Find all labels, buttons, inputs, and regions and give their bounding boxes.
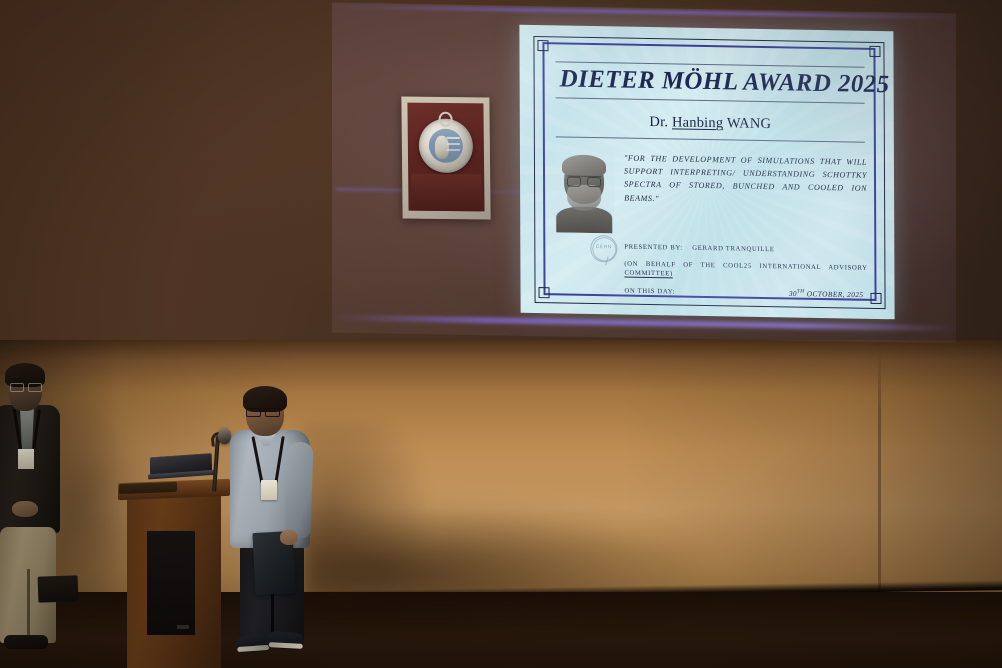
on-behalf-suffix: COMMITTEE) <box>624 270 672 278</box>
plaque-board <box>407 103 484 212</box>
speaker-badge <box>261 480 277 500</box>
portrait-hair <box>562 155 606 178</box>
recipient-first-name: Hanbing <box>672 115 723 132</box>
floor-shadow <box>300 500 720 620</box>
attendee-hands <box>12 501 38 517</box>
medal-engraving <box>447 137 460 156</box>
medal-center <box>429 129 463 163</box>
lectern-body <box>127 495 221 668</box>
recipient-prefix: Dr. <box>649 114 668 130</box>
corner-square-top-right <box>869 46 880 57</box>
corner-square-top-left <box>537 40 548 51</box>
speaker-shoe-left <box>235 635 270 653</box>
recipient-last-name: WANG <box>727 116 771 133</box>
certificate-title-block: DIETER MÖHL AWARD 2025 <box>554 61 867 104</box>
speaker-hand <box>280 530 298 545</box>
date-day: 30 <box>789 289 797 298</box>
corner-square-bottom-left <box>539 287 550 298</box>
date-ordinal: TH <box>797 288 804 294</box>
date-month-year: OCTOBER, 2025 <box>804 289 863 299</box>
award-medal-icon <box>419 119 474 174</box>
attendee-standing-left <box>0 363 70 668</box>
attendee-shoes <box>4 635 48 649</box>
certificate-content: DIETER MÖHL AWARD 2025 Dr. Hanbing WANG … <box>553 51 867 292</box>
cern-logo-icon: CERN <box>590 235 617 262</box>
lectern-panel-logo <box>177 625 189 629</box>
portrait-beard <box>567 185 601 212</box>
award-citation-text: "FOR THE DEVELOPMENT OF SIMULATIONS THAT… <box>624 150 867 209</box>
presented-by-label: PRESENTED BY: <box>624 244 683 252</box>
corner-square-bottom-right <box>871 293 882 304</box>
cern-seal-label: CERN <box>596 244 612 250</box>
attendee-badge <box>18 449 34 469</box>
speaker-shoe-right <box>268 631 305 650</box>
on-behalf-line: (ON BEHALF OF THE COOL25 INTERNATIONAL A… <box>624 259 867 282</box>
dark-object-floor-left <box>38 575 79 602</box>
recipient-name: Dr. Hanbing WANG <box>554 113 867 135</box>
attendee-leg-seam <box>27 569 30 643</box>
dieter-mohl-portrait <box>554 149 614 234</box>
photo-scene: DIETER MÖHL AWARD 2025 Dr. Hanbing WANG … <box>0 0 1002 668</box>
name-rule <box>556 137 865 143</box>
speaker-glasses-icon <box>246 408 280 415</box>
attendee-glasses-icon <box>10 383 42 390</box>
portrait-glasses-icon <box>567 176 601 185</box>
presented-by-line: PRESENTED BY: GERARD TRANQUILLE <box>624 243 867 257</box>
award-date: 30TH OCTOBER, 2025 <box>789 288 868 301</box>
laptop <box>150 453 216 482</box>
medal-plaque-photo <box>401 97 490 220</box>
award-recipient-at-podium <box>228 382 320 668</box>
speaker-right-arm <box>284 442 313 539</box>
speaker-glasses-bridge <box>259 411 267 412</box>
certificate-middle-row: "FOR THE DEVELOPMENT OF SIMULATIONS THAT… <box>554 149 867 238</box>
lectern-front-panel <box>147 531 195 635</box>
lectern <box>121 481 225 668</box>
presenter-name: GERARD TRANQUILLE <box>692 245 774 253</box>
award-title: DIETER MÖHL AWARD 2025 <box>554 66 867 100</box>
award-certificate-slide: DIETER MÖHL AWARD 2025 Dr. Hanbing WANG … <box>519 25 894 320</box>
on-this-day-label: ON THIS DAY: <box>625 287 676 297</box>
